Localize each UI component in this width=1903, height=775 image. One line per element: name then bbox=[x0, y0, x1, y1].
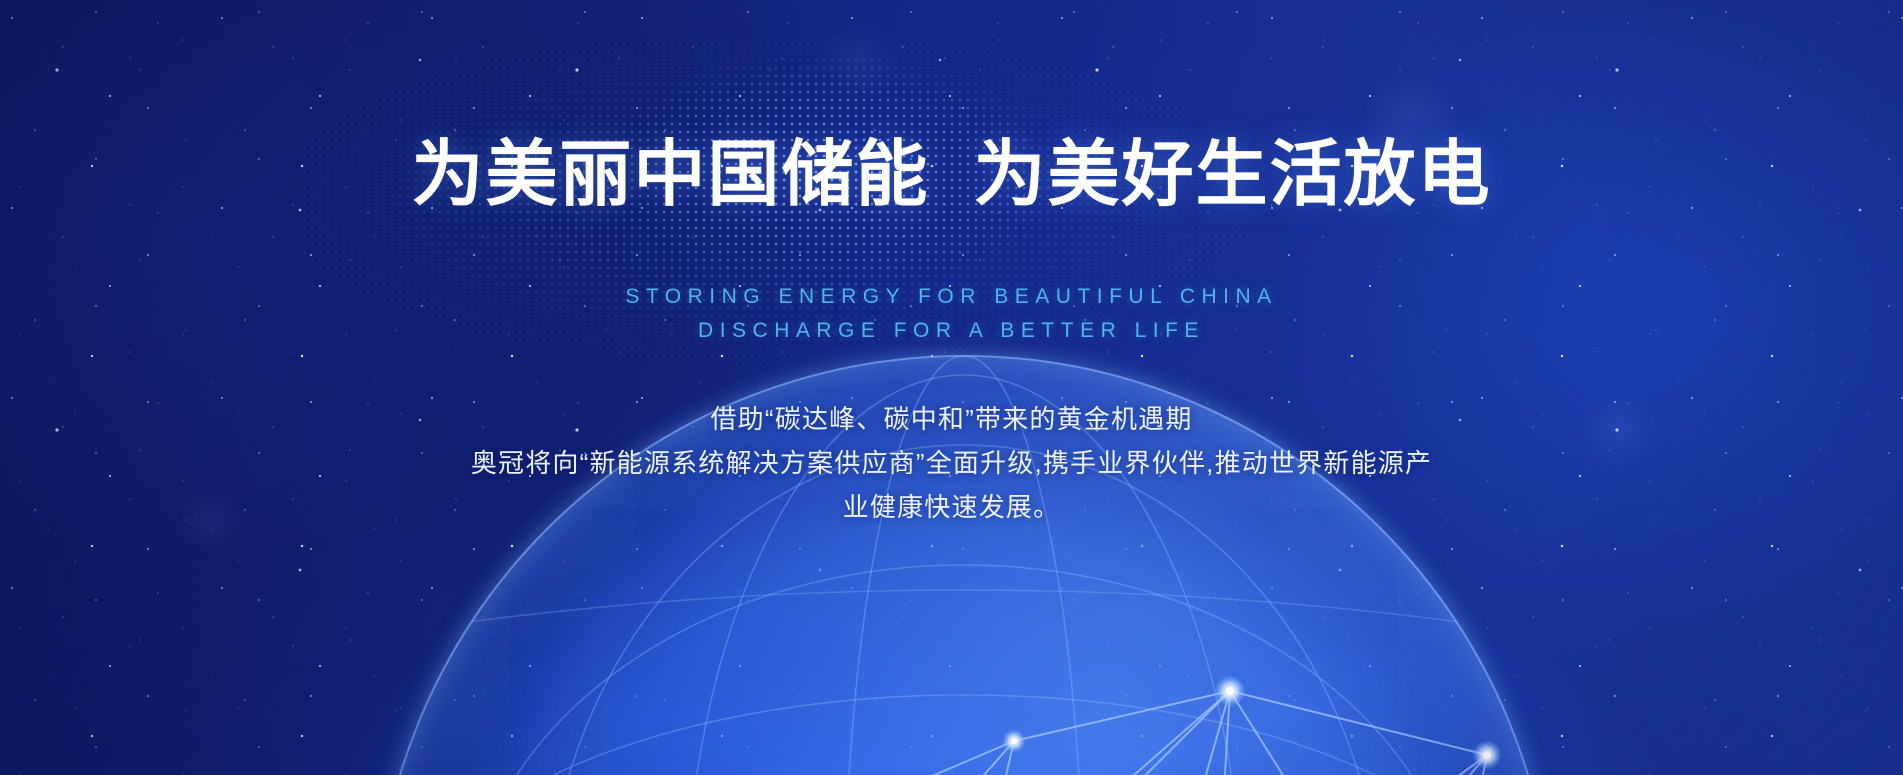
hero-banner: 为美丽中国储能 为美好生活放电 STORING ENERGY FOR BEAUT… bbox=[0, 0, 1903, 775]
description-paragraph: 借助“碳达峰、碳中和”带来的黄金机遇期 奥冠将向“新能源系统解决方案供应商”全面… bbox=[372, 397, 1532, 529]
english-tagline-line-2: DISCHARGE FOR A BETTER LIFE bbox=[0, 320, 1903, 341]
banner-content: 为美丽中国储能 为美好生活放电 STORING ENERGY FOR BEAUT… bbox=[0, 0, 1903, 775]
description-line-1: 借助“碳达峰、碳中和”带来的黄金机遇期 bbox=[372, 397, 1532, 441]
english-tagline-line-1: STORING ENERGY FOR BEAUTIFUL CHINA bbox=[0, 286, 1903, 307]
description-line-3: 业健康快速发展。 bbox=[372, 485, 1532, 529]
description-line-2: 奥冠将向“新能源系统解决方案供应商”全面升级,携手业界伙伴,推动世界新能源产 bbox=[372, 441, 1532, 485]
headline: 为美丽中国储能 为美好生活放电 bbox=[0, 138, 1903, 214]
